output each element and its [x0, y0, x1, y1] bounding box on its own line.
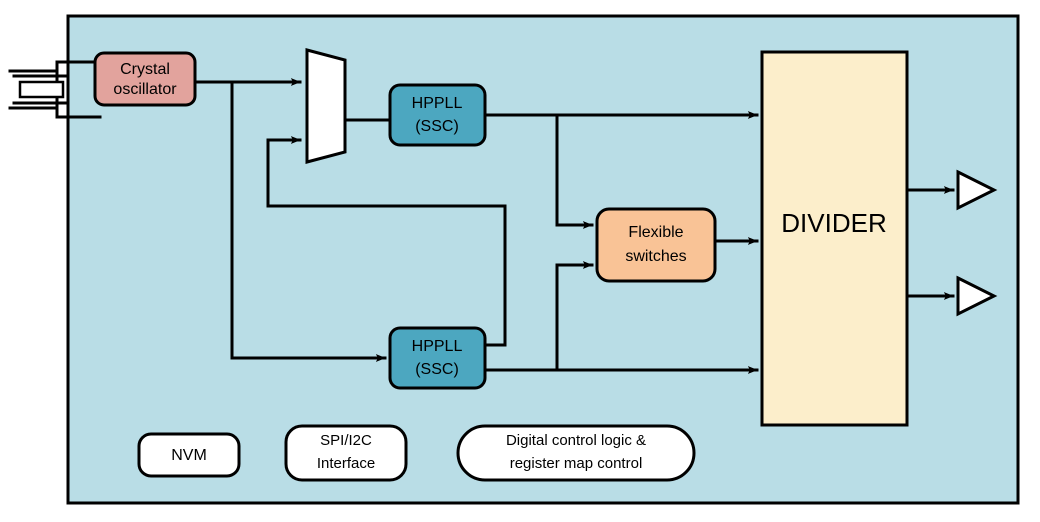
block-diagram: Crystal oscillator HPPLL (SSC) HPPL	[0, 0, 1040, 522]
digital-control-logic-label-line1: Digital control logic &	[506, 432, 646, 449]
crystal-oscillator-block[interactable]: Crystal oscillator	[95, 53, 195, 105]
flexible-switches-label-line2: switches	[625, 248, 686, 265]
nvm-block[interactable]: NVM	[139, 434, 239, 476]
spi-i2c-interface-block[interactable]: SPI/I2C Interface	[286, 426, 406, 480]
divider-block[interactable]: DIVIDER	[762, 52, 907, 425]
divider-label: DIVIDER	[781, 208, 886, 238]
hppll-bottom-label-line1: HPPLL	[412, 338, 463, 355]
hppll-bottom-label-line2: (SSC)	[415, 361, 459, 378]
hppll-top-block[interactable]: HPPLL (SSC)	[390, 85, 485, 145]
divider-box[interactable]	[762, 52, 907, 425]
mux-shape[interactable]	[307, 50, 345, 162]
flexible-switches-label-line1: Flexible	[628, 224, 683, 241]
spi-i2c-label-line2: Interface	[317, 455, 375, 472]
hppll-bottom-box[interactable]	[390, 328, 485, 388]
hppll-top-label-line1: HPPLL	[412, 95, 463, 112]
hppll-bottom-block[interactable]: HPPLL (SSC)	[390, 328, 485, 388]
flexible-switches-block[interactable]: Flexible switches	[597, 209, 715, 281]
crystal-oscillator-label-line2: oscillator	[113, 81, 177, 98]
digital-control-logic-label-line2: register map control	[510, 455, 643, 472]
nvm-label: NVM	[171, 447, 207, 464]
hppll-top-label-line2: (SSC)	[415, 118, 459, 135]
hppll-top-box[interactable]	[390, 85, 485, 145]
digital-control-logic-block[interactable]: Digital control logic & register map con…	[458, 426, 694, 480]
diagram-canvas: Crystal oscillator HPPLL (SSC) HPPL	[0, 0, 1040, 522]
spi-i2c-label-line1: SPI/I2C	[320, 432, 372, 449]
crystal-oscillator-label-line1: Crystal	[120, 61, 170, 78]
flexible-switches-box[interactable]	[597, 209, 715, 281]
mux-block[interactable]	[307, 50, 345, 162]
